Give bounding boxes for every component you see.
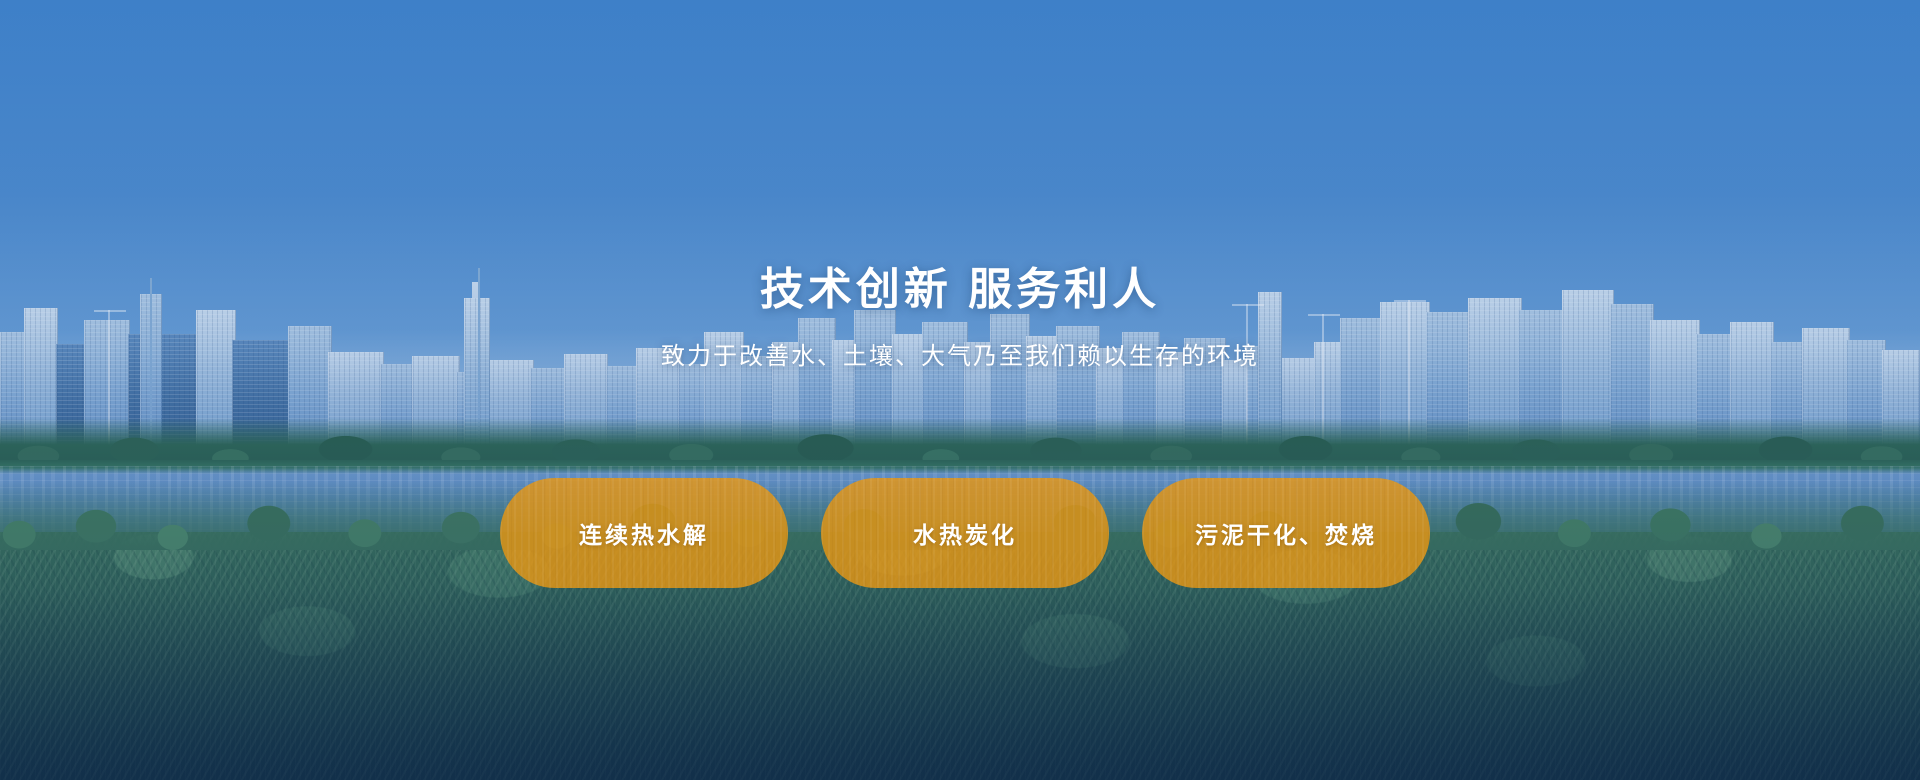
service-button-continuous-thermal-hydrolysis[interactable]: 连续热水解	[500, 478, 788, 588]
service-button-sludge-drying-incineration[interactable]: 污泥干化、焚烧	[1142, 478, 1430, 588]
service-button-group: 连续热水解 水热炭化 污泥干化、焚烧	[500, 478, 1430, 588]
service-button-hydrothermal-carbonization[interactable]: 水热炭化	[821, 478, 1109, 588]
service-button-label: 连续热水解	[579, 516, 709, 550]
hero-banner: 技术创新 服务利人 致力于改善水、土壤、大气乃至我们赖以生存的环境 连续热水解 …	[0, 0, 1920, 780]
service-button-label: 污泥干化、焚烧	[1195, 516, 1377, 550]
service-button-label: 水热炭化	[913, 516, 1017, 550]
page-title: 技术创新 服务利人	[0, 268, 1920, 312]
hero-content: 技术创新 服务利人 致力于改善水、土壤、大气乃至我们赖以生存的环境 连续热水解 …	[0, 0, 1920, 780]
page-subtitle: 致力于改善水、土壤、大气乃至我们赖以生存的环境	[0, 345, 1920, 369]
